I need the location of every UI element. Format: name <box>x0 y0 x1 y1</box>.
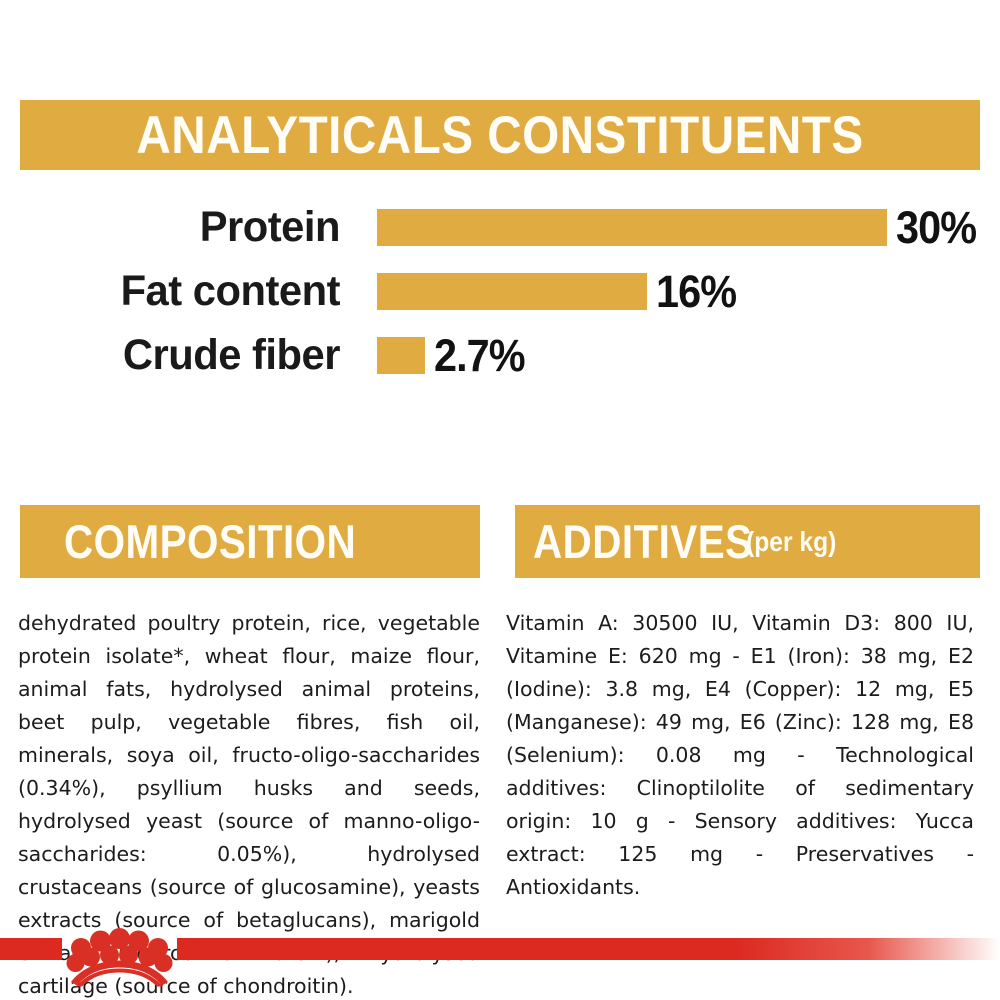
chart-value-fat-content: 16% <box>656 269 736 314</box>
chart-row-crude-fiber: Crude fiber 2.7% <box>0 324 1000 386</box>
analyticals-constituents-header: ANALYTICALS CONSTITUENTS <box>20 100 980 170</box>
additives-subtitle-per-kg: (per kg) <box>746 528 836 556</box>
royal-canin-crown-icon <box>62 915 177 987</box>
chart-bar-crude-fiber <box>377 337 425 374</box>
chart-label-crude-fiber: Crude fiber <box>10 334 340 377</box>
additives-header: ADDITIVES (per kg) <box>515 505 980 578</box>
additives-title: ADDITIVES <box>533 518 752 565</box>
chart-value-protein: 30% <box>896 205 976 250</box>
chart-bar-protein <box>377 209 887 246</box>
brand-stripe-left <box>0 938 62 960</box>
constituents-bar-chart: Protein 30% Fat content 16% Crude fiber … <box>0 196 1000 386</box>
analyticals-constituents-title: ANALYTICALS CONSTITUENTS <box>136 109 863 162</box>
chart-value-crude-fiber: 2.7% <box>434 333 525 378</box>
chart-row-protein: Protein 30% <box>0 196 1000 258</box>
chart-row-fat-content: Fat content 16% <box>0 260 1000 322</box>
nutrition-panel: ANALYTICALS CONSTITUENTS Protein 30% Fat… <box>0 0 1000 1000</box>
additives-body-text: Vitamin A: 30500 IU, Vitamin D3: 800 IU,… <box>506 607 974 904</box>
composition-title: COMPOSITION <box>64 518 356 565</box>
composition-header: COMPOSITION <box>20 505 480 578</box>
brand-strip <box>0 938 1000 960</box>
brand-stripe-right <box>177 938 1000 960</box>
chart-label-fat-content: Fat content <box>10 270 340 313</box>
chart-label-protein: Protein <box>10 206 340 249</box>
chart-bar-fat-content <box>377 273 647 310</box>
